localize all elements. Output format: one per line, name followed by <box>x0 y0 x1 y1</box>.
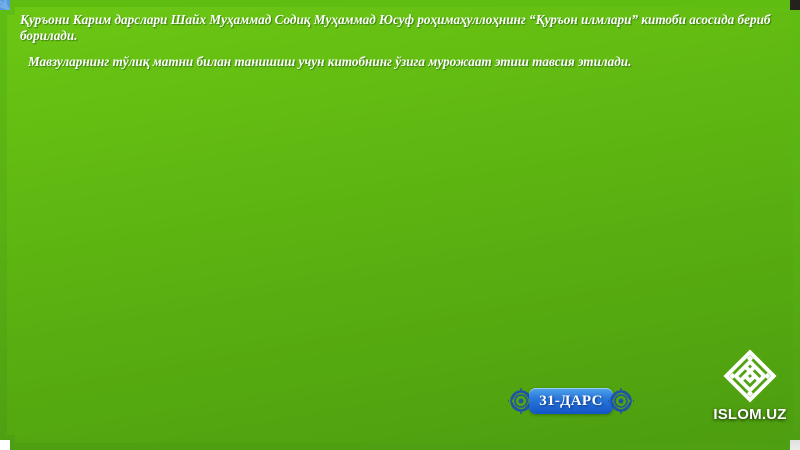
site-logo[interactable]: ISLOM.UZ <box>706 348 794 426</box>
poster-canvas: Қуръони Карим Қуръони Карим дарслари Шай… <box>0 0 800 450</box>
description-paragraph-2: Мавзуларнинг тўлиқ матни билан танишиш у… <box>20 54 788 70</box>
kufic-calligraphy-diamond-icon <box>722 348 778 404</box>
badge-pill[interactable]: 31-ДАРС <box>529 388 613 414</box>
logo-text: ISLOM.UZ <box>706 406 794 423</box>
description-panel: Қуръони Карим дарслари Шайх Муҳаммад Сод… <box>0 0 800 450</box>
description-paragraph-1: Қуръони Карим дарслари Шайх Муҳаммад Сод… <box>20 12 788 45</box>
description-text: Қуръони Карим дарслари Шайх Муҳаммад Сод… <box>20 12 788 70</box>
badge-label: 31-ДАРС <box>539 393 602 410</box>
description-panel-inner <box>7 7 793 443</box>
badge-ornament-right-icon <box>608 386 634 416</box>
lesson-badge[interactable]: 31-ДАРС <box>508 386 634 416</box>
